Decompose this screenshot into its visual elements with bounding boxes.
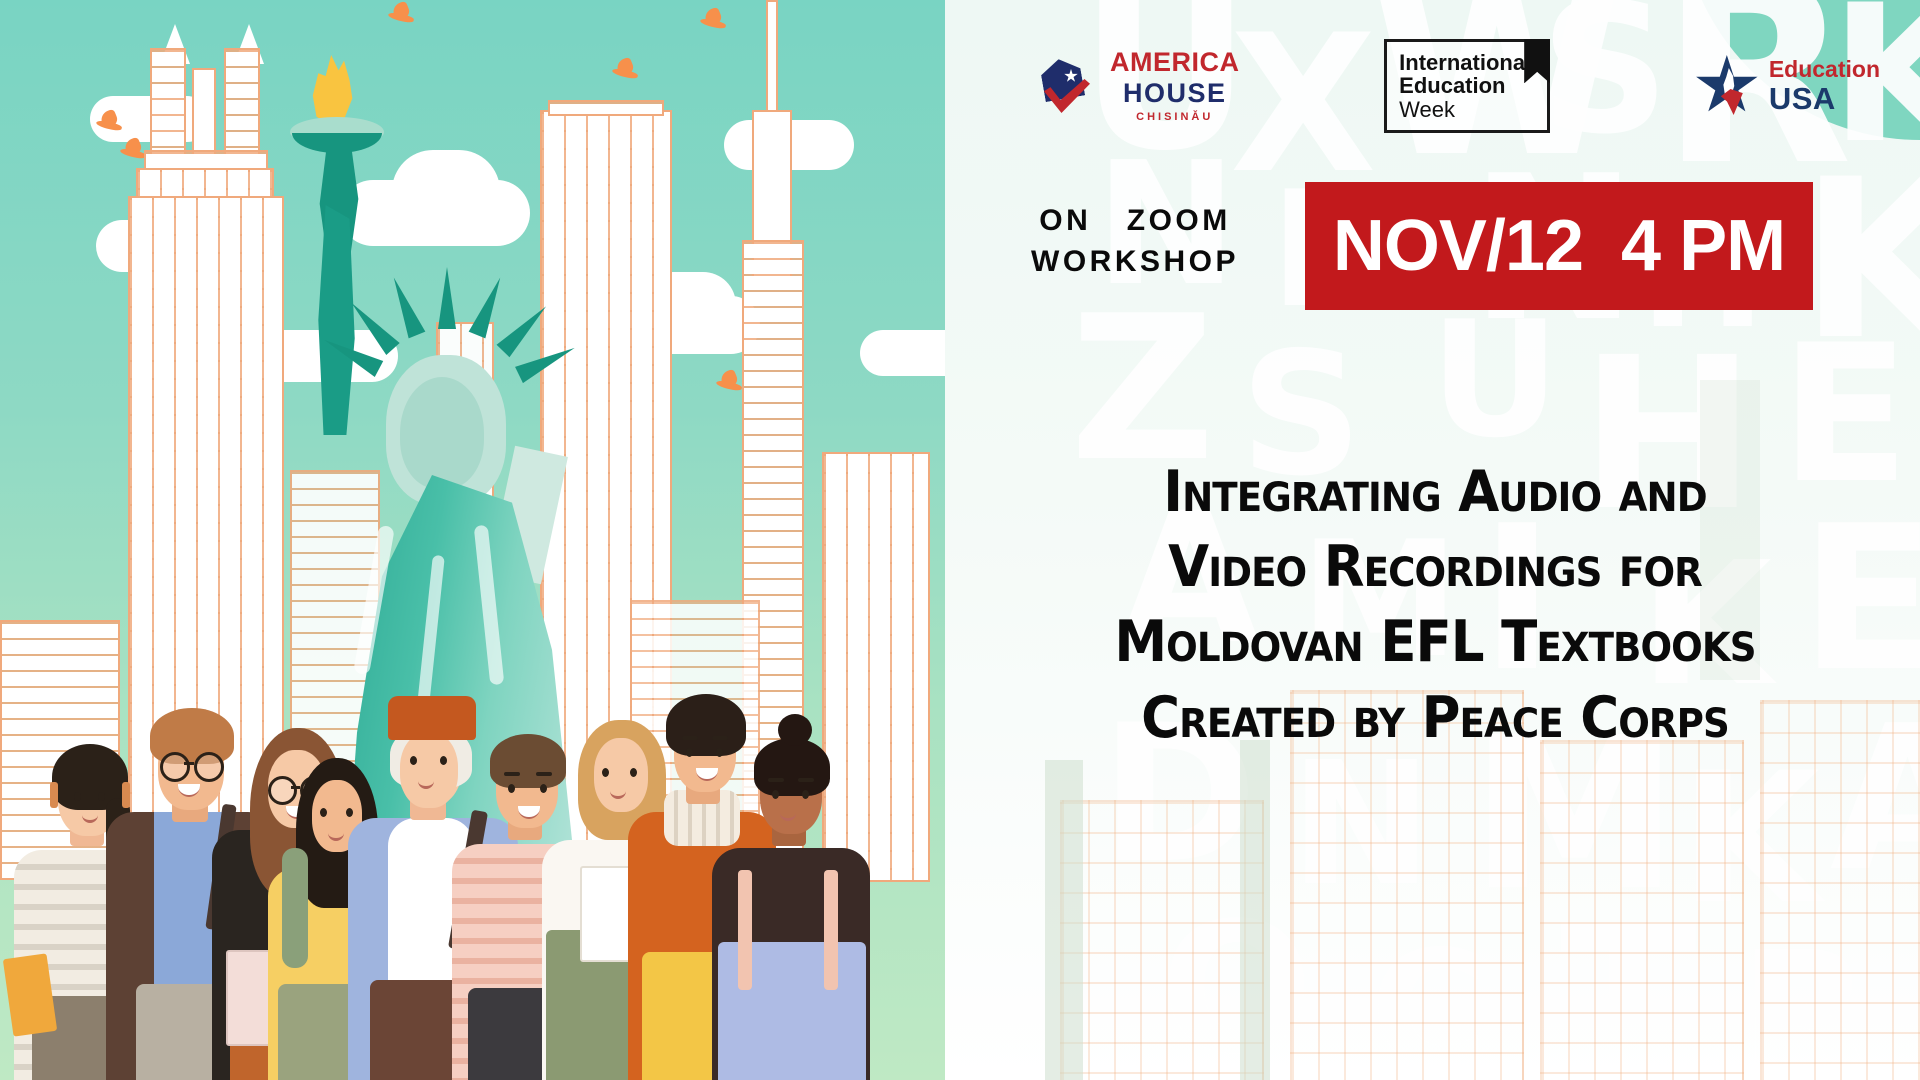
background-building-outline xyxy=(1060,800,1264,1080)
student-eye xyxy=(98,792,105,801)
crown-spike xyxy=(515,340,579,383)
student-eye xyxy=(410,756,417,765)
student-9 xyxy=(712,708,872,1080)
education-usa-wordmark: Education USA xyxy=(1769,58,1880,114)
education-usa-line1: Education xyxy=(1769,58,1880,81)
bookmark-icon xyxy=(1524,39,1550,83)
title-line-3: Moldovan EFL Textbooks xyxy=(1049,605,1821,680)
student-eye xyxy=(802,790,809,799)
student-eye xyxy=(440,756,447,765)
education-usa-line2: USA xyxy=(1769,83,1880,114)
glasses-bridge xyxy=(184,762,194,765)
student-hair-bun xyxy=(778,714,812,746)
international-education-week-logo: International Education Week xyxy=(1384,39,1550,132)
statue-of-liberty xyxy=(296,55,596,695)
background-soft-block xyxy=(1045,760,1083,1080)
torch-flame-icon xyxy=(310,55,356,125)
tower xyxy=(136,168,274,198)
background-soft-block xyxy=(1240,740,1270,1080)
event-format-block: ON ZOOM WORKSHOP xyxy=(1000,200,1270,283)
iew-line2: Education xyxy=(1399,74,1531,97)
title-line-1: Integrating Audio and xyxy=(1049,455,1821,530)
event-poster: U X W S R K N B N H K Z S U H E A M I K … xyxy=(0,0,1920,1080)
student-face xyxy=(400,732,458,808)
education-usa-icon xyxy=(1695,55,1759,117)
student-brow xyxy=(798,778,814,782)
crown-spike xyxy=(497,300,553,357)
student-eye xyxy=(602,768,609,777)
student-eye xyxy=(508,784,515,793)
america-house-icon xyxy=(1040,57,1098,115)
student-brow xyxy=(504,772,520,776)
event-format-line1: ON ZOOM xyxy=(1000,200,1270,241)
student-eye xyxy=(686,748,693,757)
crown-spike xyxy=(438,267,456,329)
student-brow xyxy=(768,778,784,782)
crown-spike xyxy=(469,274,509,338)
student-hair xyxy=(754,738,830,796)
america-house-wordmark: AMERICA HOUSE CHISINĂU xyxy=(1110,49,1240,123)
date-time-text: NOV/12 4 PM xyxy=(1333,205,1785,287)
student-eye xyxy=(772,790,779,799)
student-braid xyxy=(282,848,308,968)
america-house-line1: AMERICA xyxy=(1110,49,1240,76)
background-building-outline xyxy=(1760,700,1920,1080)
student-eye xyxy=(74,792,81,801)
statue-face xyxy=(400,377,484,489)
title-line-2: Video Recordings for xyxy=(1049,530,1821,605)
torch-band xyxy=(292,133,382,153)
america-house-line2: HOUSE xyxy=(1110,80,1240,107)
student-eye xyxy=(320,808,327,817)
america-house-logo: AMERICA HOUSE CHISINĂU xyxy=(1040,49,1240,123)
crown-spike xyxy=(385,274,425,338)
cloud xyxy=(860,330,945,376)
title-line-4: Created by Peace Corps xyxy=(1049,681,1821,756)
event-title: Integrating Audio and Video Recordings f… xyxy=(1020,455,1850,756)
event-format-line2: WORKSHOP xyxy=(1000,241,1270,282)
backpack-strap xyxy=(738,870,752,990)
backpack-strap xyxy=(824,870,838,990)
earring xyxy=(50,782,58,808)
iew-line3: Week xyxy=(1399,98,1531,121)
city-illustration xyxy=(0,0,945,1080)
background-building-outline xyxy=(1540,740,1744,1080)
iew-line1: International xyxy=(1399,51,1531,74)
student-brow xyxy=(682,736,698,740)
students-group-illustration xyxy=(0,650,945,1080)
education-usa-logo: Education USA xyxy=(1695,55,1880,117)
glasses-lens xyxy=(160,752,190,782)
america-house-city: CHISINĂU xyxy=(1110,112,1240,123)
logo-row: AMERICA HOUSE CHISINĂU International Edu… xyxy=(1040,40,1880,132)
date-time-banner: NOV/12 4 PM xyxy=(1305,182,1813,310)
